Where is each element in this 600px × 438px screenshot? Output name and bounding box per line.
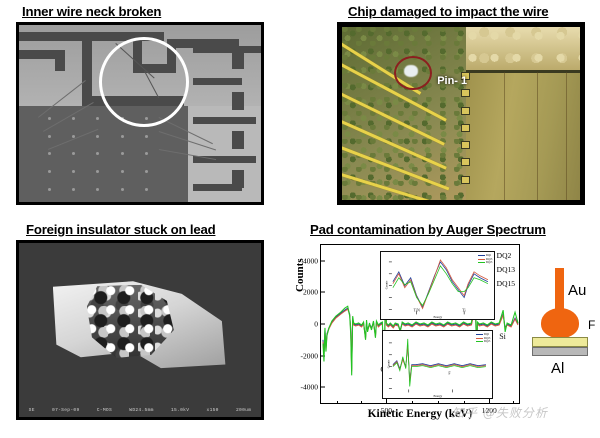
sem-image-frame: SE 07-Sep-09 C-MOS WD24.5mm 15.0kV x150 … [16, 240, 264, 420]
plot-area: 4000 2000 0 -2000 -4000 500 1200 [320, 244, 520, 404]
die-scribe-line [504, 72, 505, 200]
y-tick-label: -2000 [301, 351, 319, 360]
sem-caption: SE 07-Sep-09 C-MOS WD24.5mm 15.0kV x150 … [29, 408, 252, 413]
defect-highlight-circle [99, 37, 189, 127]
lead-trace [232, 52, 244, 70]
sem-scale-bar: 200um [236, 408, 251, 413]
lead-trace [232, 92, 244, 110]
sem-image: SE 07-Sep-09 C-MOS WD24.5mm 15.0kV x150 … [19, 243, 261, 417]
gold-ball-bond-shape [541, 308, 579, 338]
y-tick-label: -4000 [301, 383, 319, 392]
inset-lower: F Counts Energy DQ2 DQ13 DQ15 [382, 330, 493, 398]
sem-date: 07-Sep-09 [52, 408, 80, 413]
lead-trace [232, 131, 244, 149]
legend-label: DQ13 [497, 265, 515, 274]
y-tick-label: 0 [314, 320, 318, 329]
pin-1-label: Pin- 1 [437, 75, 467, 87]
zhihu-watermark: 知乎 @失败分析 [452, 404, 548, 421]
inset-legend-label: DQ15 [484, 340, 490, 343]
lead-trace [193, 78, 241, 85]
die-scribe-line [537, 72, 538, 200]
inset-upper-legend: DQ2 DQ13 DQ15 [478, 254, 492, 264]
inset-lower-xlabel: Energy [383, 394, 492, 398]
mold-compound-region [342, 27, 466, 200]
inset-upper: TiN Ti Counts Energy DQ2 DQ13 DQ15 [380, 251, 495, 319]
svg-text:F: F [449, 371, 452, 376]
panel-title-wire-neck: Inner wire neck broken [22, 4, 161, 19]
lead-trace [193, 46, 261, 53]
bond-cross-section-schematic: Au F Al [524, 260, 596, 410]
schematic-label-au: Au [568, 282, 586, 299]
lead-finger [55, 50, 65, 71]
lead-finger [19, 32, 92, 41]
contamination-layer-shape [532, 337, 588, 347]
inset-upper-ylabel: Counts [385, 281, 389, 290]
sem-voltage: 15.0kV [171, 408, 189, 413]
die-edge-damage-region [466, 27, 580, 72]
chip-damage-image-frame: Pin- 1 [337, 22, 585, 205]
sem-working-distance: WD24.5mm [129, 408, 153, 413]
peak-label-Si: Si [499, 332, 506, 341]
sem-instrument: C-MOS [97, 408, 112, 413]
sem-magnification: x150 [207, 408, 219, 413]
panel-title-auger-spectrum: Pad contamination by Auger Spectrum [310, 222, 546, 237]
inset-lower-legend: DQ2 DQ13 DQ15 [476, 333, 490, 343]
die-edge-line [466, 70, 580, 73]
aluminum-pad-shape [532, 347, 588, 356]
legend-label: DQ15 [497, 279, 515, 288]
schematic-label-f: F [588, 318, 595, 332]
wire-neck-image-frame [16, 22, 264, 205]
y-tick-label: 4000 [303, 256, 318, 265]
svg-text:Ti: Ti [463, 308, 467, 313]
inset-lower-ylabel: Counts [387, 360, 391, 369]
die-scribe-line [566, 72, 567, 200]
inset-upper-xlabel: Energy [381, 315, 494, 319]
lead-trace [193, 184, 241, 191]
panel-title-chip-damage: Chip damaged to impact the wire [348, 4, 548, 19]
schematic-label-al: Al [551, 360, 564, 377]
lead-trace [193, 117, 256, 124]
panel-title-foreign-insulator: Foreign insulator stuck on lead [26, 222, 215, 237]
svg-text:TiN: TiN [414, 308, 420, 313]
lead-finger [82, 32, 92, 103]
auger-chart: Counts 4000 2000 0 -2000 -4000 500 1200 [300, 240, 596, 436]
legend-label: DQ2 [497, 251, 512, 260]
y-tick-label: 2000 [303, 288, 318, 297]
wire-neck-xray-image [19, 25, 261, 202]
chip-damage-photo: Pin- 1 [342, 27, 580, 200]
sem-signal: SE [29, 408, 35, 413]
inset-legend-label: DQ15 [486, 261, 492, 264]
